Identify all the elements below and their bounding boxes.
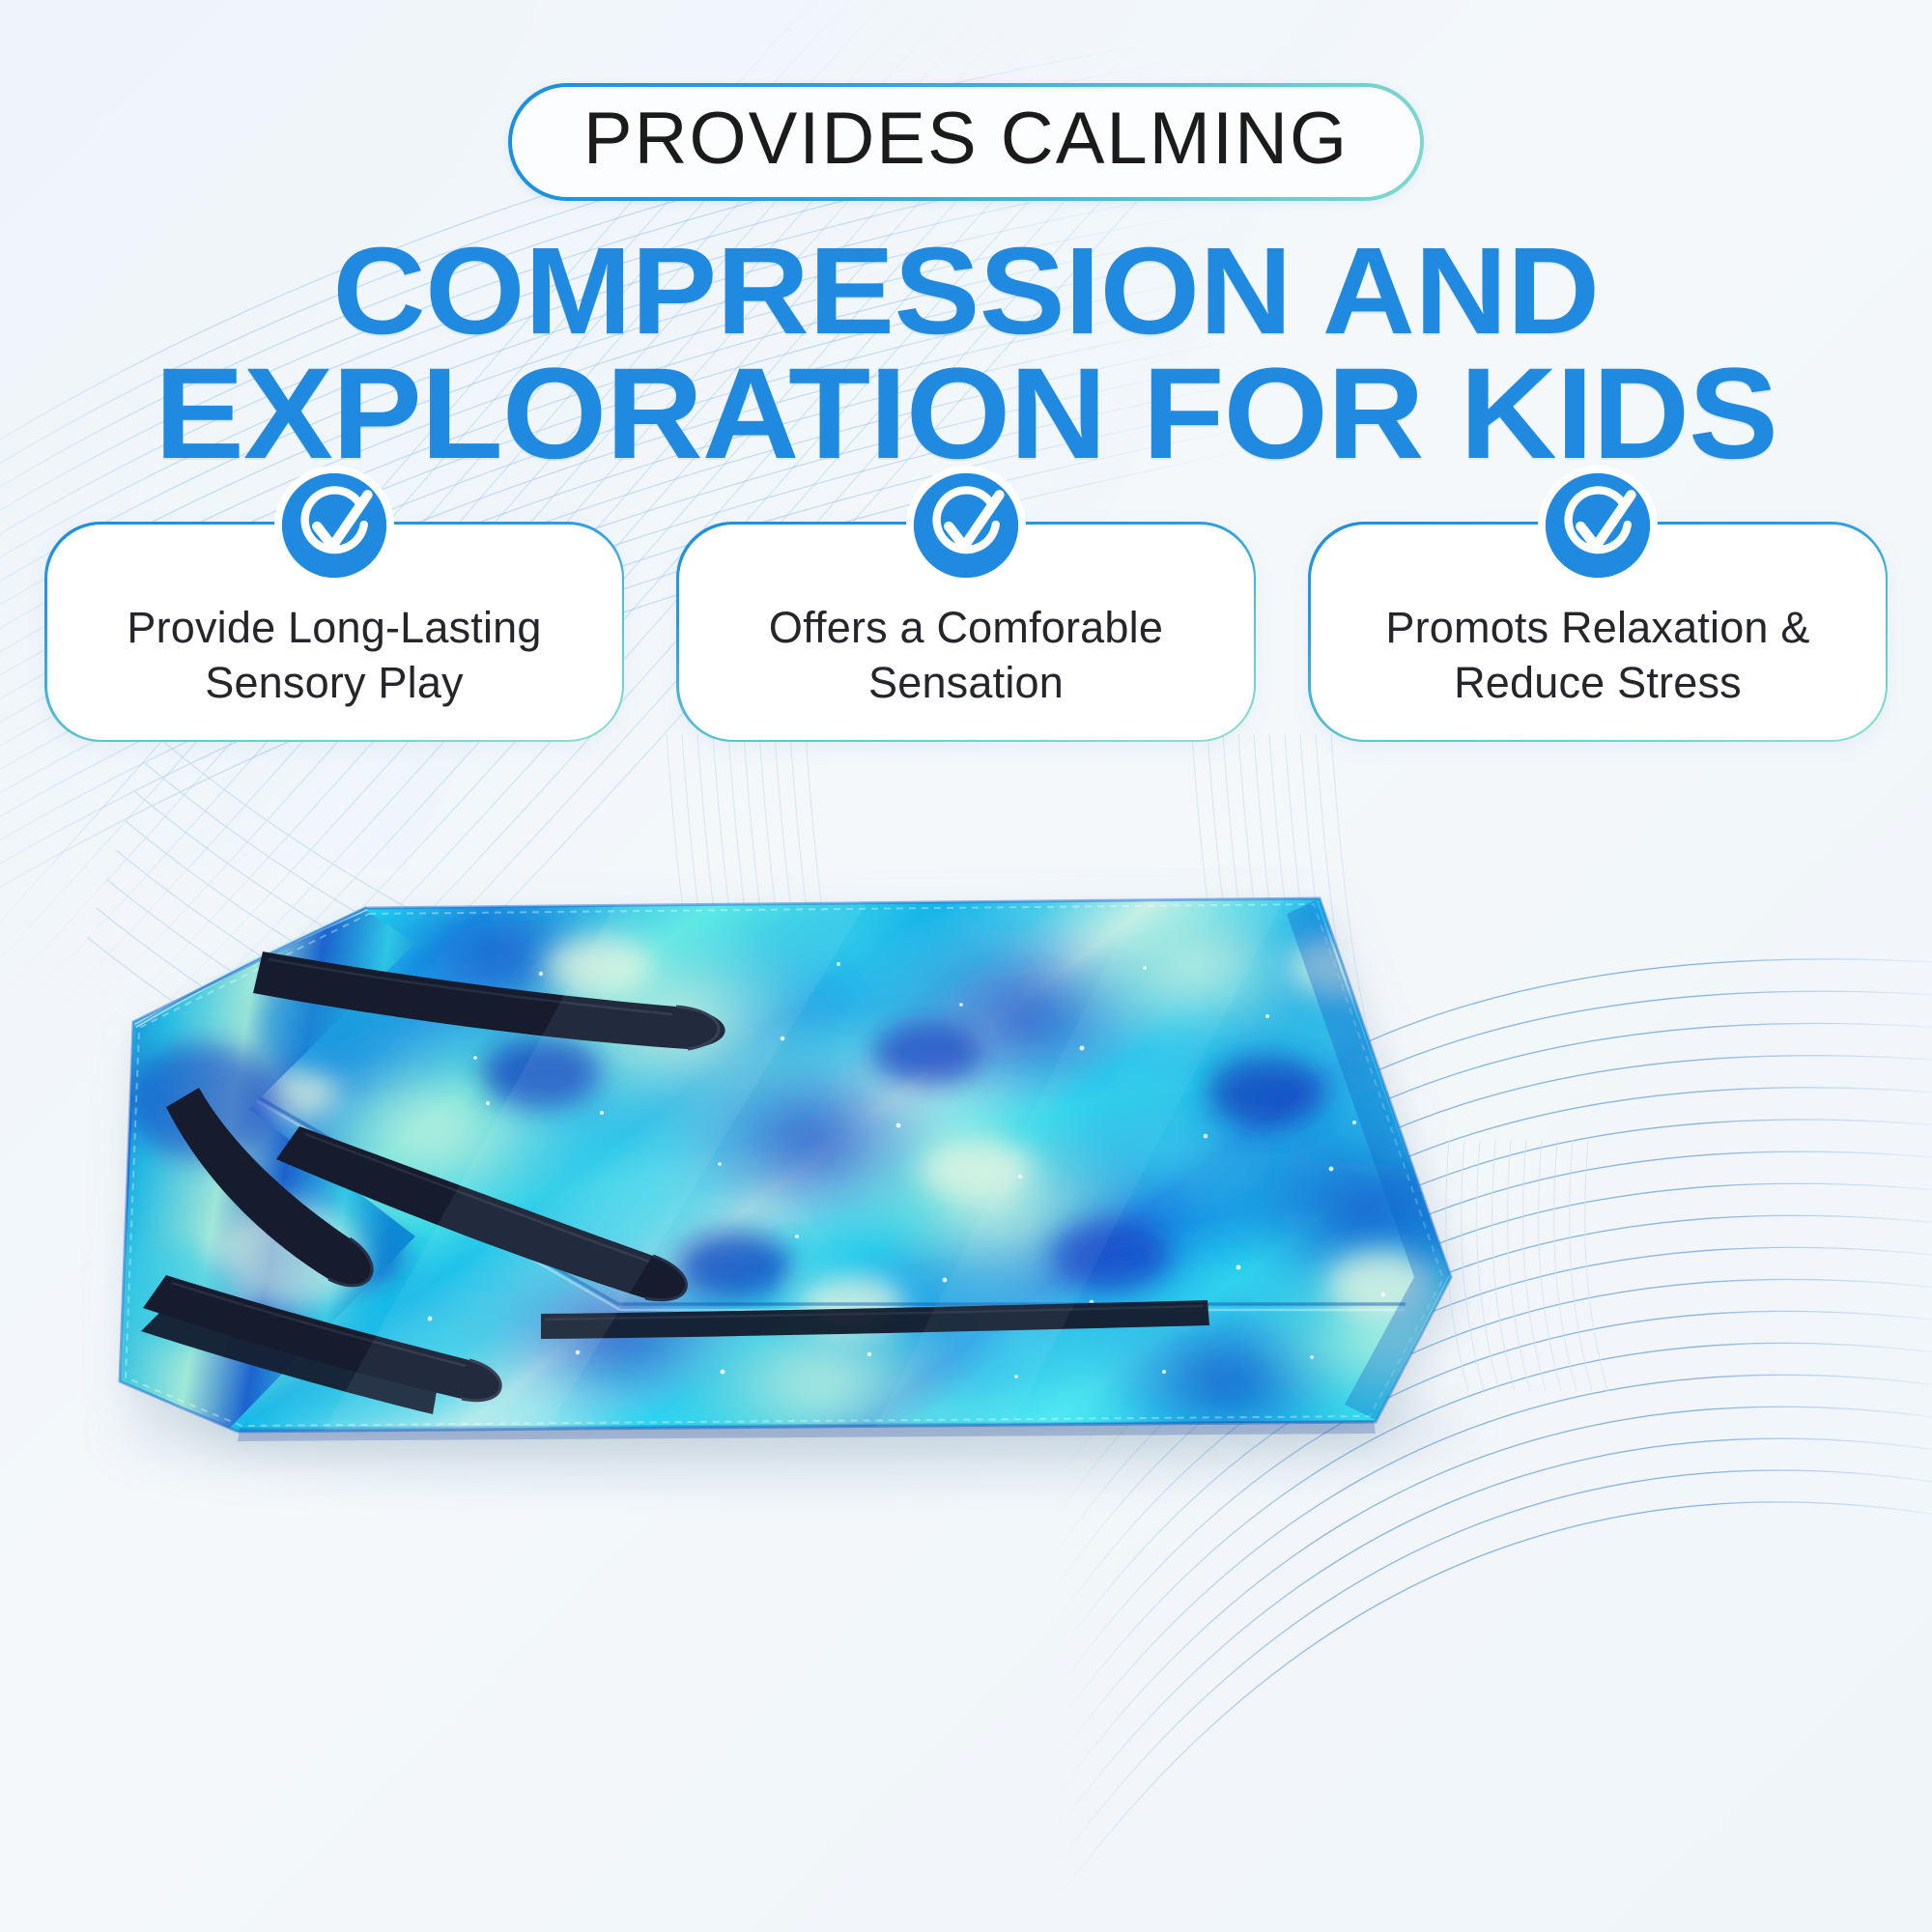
feature-card-label: Offers a Comforable Sensation (769, 600, 1163, 711)
check-circle-icon (1538, 466, 1658, 585)
badge-inner: PROVIDES CALMING (512, 87, 1420, 197)
feature-label-line-2: Sensory Play (205, 658, 464, 707)
feature-cards-row: Provide Long-Lasting Sensory Play Offers… (44, 522, 1888, 742)
feature-label-line-2: Sensation (868, 658, 1064, 707)
provides-calming-badge: PROVIDES CALMING (508, 83, 1424, 201)
feature-label-line-1: Offers a Comforable (769, 603, 1163, 652)
feature-card-label: Provide Long-Lasting Sensory Play (127, 600, 541, 711)
badge-container: PROVIDES CALMING (0, 83, 1932, 201)
page-title: COMPRESSION AND EXPLORATION FOR KIDS (0, 232, 1932, 477)
feature-label-line-2: Reduce Stress (1454, 658, 1742, 707)
feature-card-comfortable-sensation: Offers a Comforable Sensation (676, 522, 1256, 742)
feature-card-relaxation: Promots Relaxation & Reduce Stress (1308, 522, 1888, 742)
badge-label: PROVIDES CALMING (583, 102, 1349, 176)
feature-card-sensory-play: Provide Long-Lasting Sensory Play (44, 522, 624, 742)
headline-line-1: COMPRESSION AND (0, 232, 1932, 352)
feature-label-line-1: Promots Relaxation & (1385, 603, 1809, 652)
feature-label-line-1: Provide Long-Lasting (127, 603, 541, 652)
feature-card-label: Promots Relaxation & Reduce Stress (1385, 600, 1809, 711)
product-image (0, 850, 1932, 1932)
headline-line-2: EXPLORATION FOR KIDS (0, 352, 1932, 477)
check-circle-icon (274, 466, 394, 585)
check-circle-icon (906, 466, 1026, 585)
